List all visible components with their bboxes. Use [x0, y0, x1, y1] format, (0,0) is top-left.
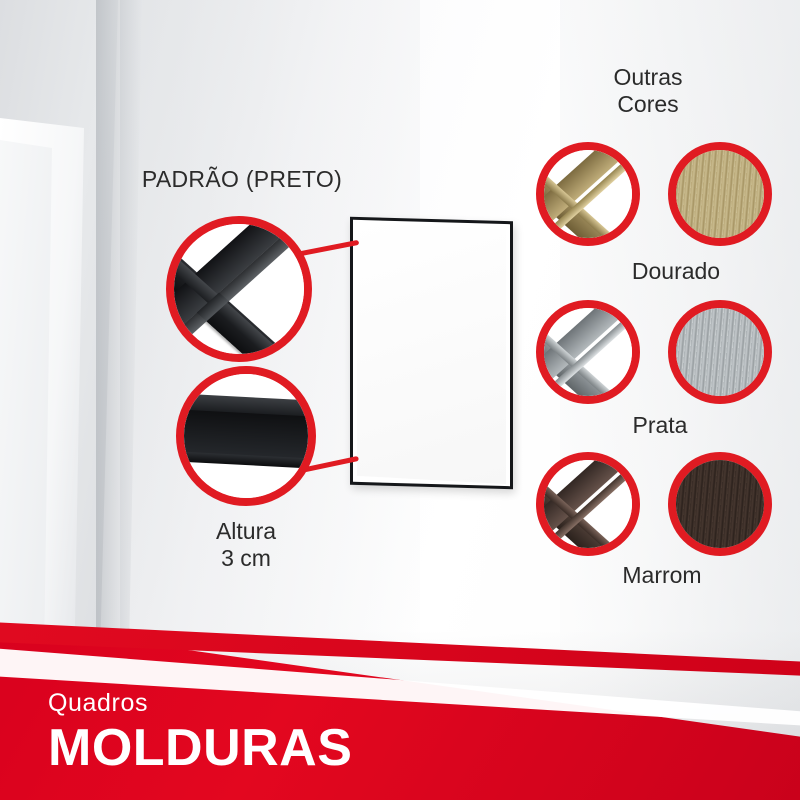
swatch-dourado-corner [536, 142, 640, 246]
callout-padrao-preto [166, 216, 312, 362]
label-padrao: PADRÃO (PRETO) [128, 166, 356, 193]
bottom-banner: Quadros MOLDURAS [0, 540, 800, 800]
callout-altura [176, 366, 316, 506]
banner-text-block: Quadros MOLDURAS [48, 691, 352, 774]
banner-subtitle: Quadros [48, 691, 352, 716]
gold-flat-art [676, 150, 764, 238]
brown-corner-art [544, 460, 632, 548]
label-dourado: Dourado [576, 258, 776, 285]
banner-title: MOLDURAS [48, 722, 352, 774]
brown-flat-art [676, 460, 764, 548]
picture-frame-canvas [357, 222, 506, 484]
label-prata: Prata [570, 412, 750, 439]
picture-frame [350, 219, 513, 487]
black-profile-art [184, 374, 308, 498]
silver-corner-art [544, 308, 632, 396]
picture-frame-border [350, 217, 513, 490]
gold-corner-art [544, 150, 632, 238]
black-corner-art [174, 224, 304, 354]
silver-flat-art [676, 308, 764, 396]
swatch-dourado-flat [668, 142, 772, 246]
swatch-prata-corner [536, 300, 640, 404]
label-outras-cores: Outras Cores [558, 64, 738, 118]
swatch-prata-flat [668, 300, 772, 404]
infographic-canvas: PADRÃO (PRETO) Altura 3 cm Outras Cores … [0, 0, 800, 800]
